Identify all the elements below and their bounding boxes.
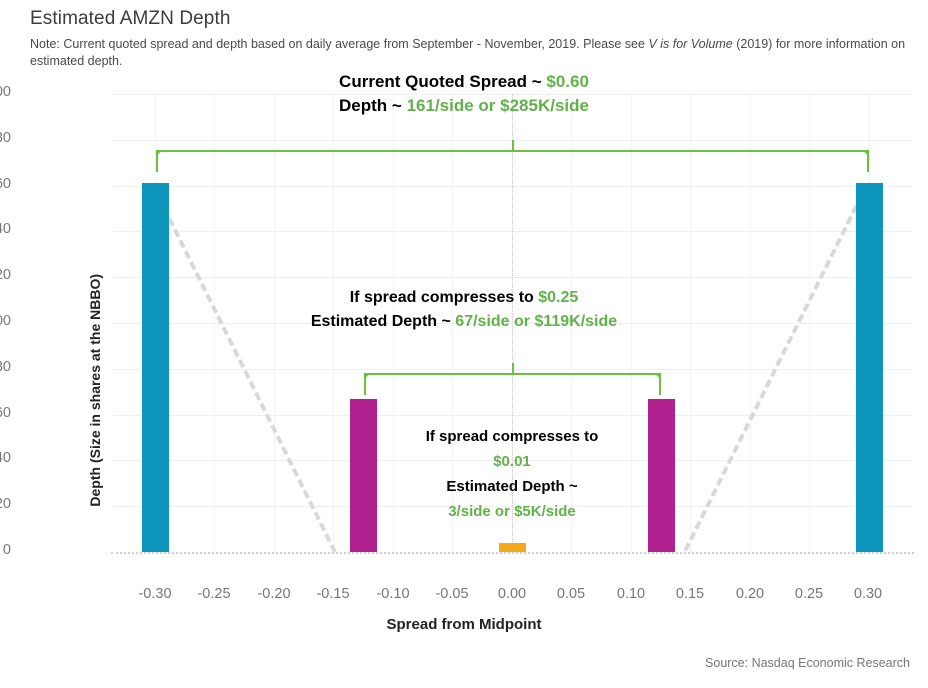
bracket-cap-left bbox=[156, 150, 158, 172]
compressed-spread-bracket bbox=[356, 373, 669, 397]
y-tick-0: 0 bbox=[0, 542, 11, 558]
source-note: Source: Nasdaq Economic Research bbox=[705, 656, 910, 670]
y-tick-140: 140 bbox=[0, 221, 11, 237]
guide-line-right bbox=[684, 183, 869, 551]
annotation-001-line3: Estimated Depth ~ bbox=[352, 474, 672, 499]
y-tick-180: 180 bbox=[0, 130, 11, 146]
annotation-current-line2: Depth ~ 161/side or $285K/side bbox=[0, 94, 928, 118]
annotation-current-line1-value: $0.60 bbox=[546, 72, 589, 91]
annotation-025-line2: Estimated Depth ~ 67/side or $119K/side bbox=[0, 310, 928, 334]
annotation-current-line2-black: Depth ~ bbox=[339, 96, 407, 115]
annotation-compressed-001: If spread compresses to $0.01 Estimated … bbox=[352, 424, 672, 524]
annotation-current-line1: Current Quoted Spread ~ $0.60 bbox=[0, 70, 928, 94]
page-title: Estimated AMZN Depth bbox=[30, 8, 231, 30]
y-tick-120: 120 bbox=[0, 267, 11, 283]
annotation-025-line2-value: 67/side or $119K/side bbox=[455, 313, 617, 330]
annotation-001-line1: If spread compresses to bbox=[352, 424, 672, 449]
y-tick-80: 80 bbox=[0, 359, 11, 375]
current-quoted-spread-bracket bbox=[148, 150, 877, 174]
annotation-025-line1: If spread compresses to $0.25 bbox=[0, 286, 928, 310]
x-axis-title: Spread from Midpoint bbox=[0, 616, 928, 633]
bracket-cap-right bbox=[867, 150, 869, 172]
annotation-current-quoted-spread: Current Quoted Spread ~ $0.60 Depth ~ 16… bbox=[0, 70, 928, 118]
bar-midpoint-compressed-001[interactable] bbox=[499, 543, 526, 552]
y-tick-160: 160 bbox=[0, 176, 11, 192]
bracket-center-tick bbox=[512, 363, 514, 374]
y-tick-40: 40 bbox=[0, 450, 11, 466]
annotation-001-line2: $0.01 bbox=[352, 449, 672, 474]
bar-ask-side-current[interactable] bbox=[856, 183, 883, 552]
annotation-current-line2-value: 161/side or $285K/side bbox=[407, 96, 589, 115]
annotation-compressed-025: If spread compresses to $0.25 Estimated … bbox=[0, 286, 928, 334]
annotation-001-line4: 3/side or $5K/side bbox=[352, 499, 672, 524]
x-tick-0.30: 0.30 bbox=[833, 586, 903, 602]
annotation-025-line2-black: Estimated Depth ~ bbox=[311, 313, 455, 330]
bar-bid-side-current[interactable] bbox=[142, 183, 169, 552]
chart-note: Note: Current quoted spread and depth ba… bbox=[30, 36, 916, 70]
chart-note-italic-title: V is for Volume bbox=[648, 37, 732, 51]
bracket-center-tick bbox=[512, 140, 514, 151]
bracket-cap-left bbox=[364, 373, 366, 395]
annotation-025-line1-black: If spread compresses to bbox=[350, 289, 539, 306]
chart-root: Estimated AMZN Depth Note: Current quote… bbox=[0, 0, 928, 688]
chart-note-part1: Note: Current quoted spread and depth ba… bbox=[30, 37, 648, 51]
annotation-current-line1-black: Current Quoted Spread ~ bbox=[339, 72, 546, 91]
bracket-cap-right bbox=[659, 373, 661, 395]
annotation-025-line1-value: $0.25 bbox=[538, 289, 578, 306]
y-tick-20: 20 bbox=[0, 496, 11, 512]
axis-baseline bbox=[111, 552, 914, 554]
y-tick-60: 60 bbox=[0, 405, 11, 421]
